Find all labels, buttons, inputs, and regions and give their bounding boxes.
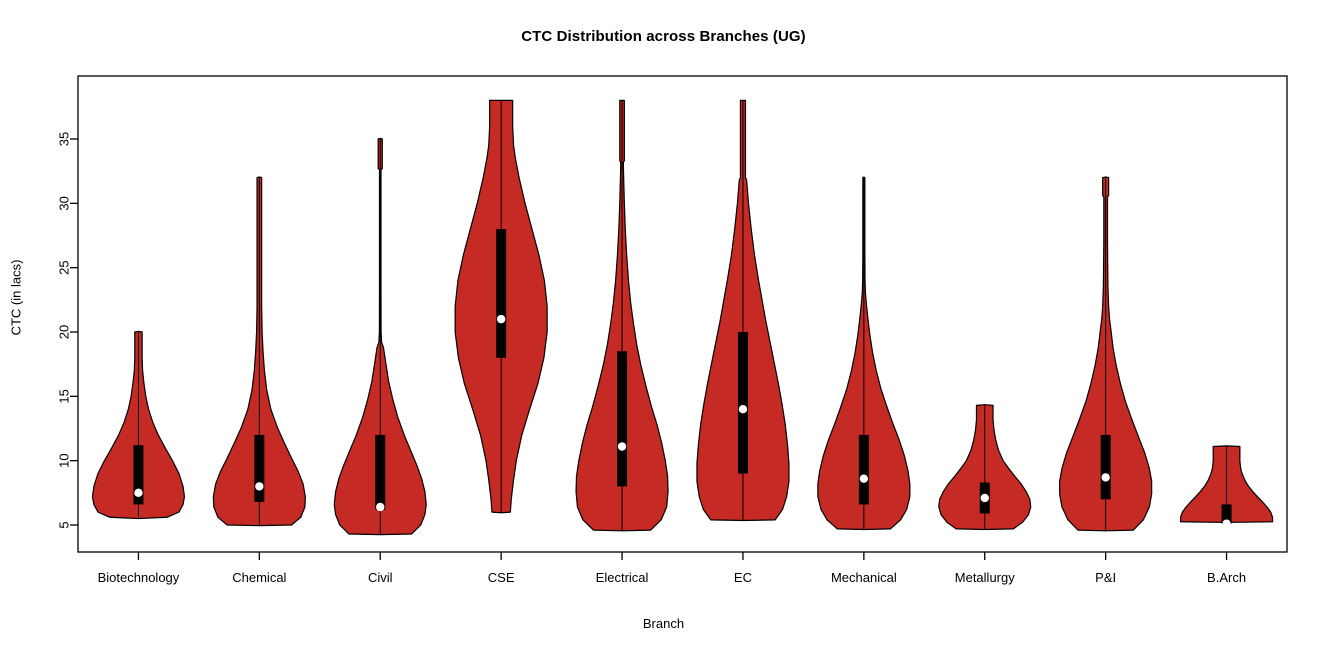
iqr-box <box>617 351 627 486</box>
median-point <box>739 405 747 413</box>
violin-plot-figure: CTC Distribution across Branches (UG) CT… <box>0 0 1327 653</box>
violin-b-arch[interactable] <box>1181 446 1273 528</box>
median-point <box>497 315 505 323</box>
iqr-box <box>375 435 385 510</box>
plot-canvas: 5101520253035BiotechnologyChemicalCivilC… <box>0 0 1327 653</box>
median-point <box>255 482 263 490</box>
violin-ec[interactable] <box>697 100 789 520</box>
median-point <box>134 489 142 497</box>
x-tick-label-biotechnology: Biotechnology <box>98 570 180 585</box>
violin-chemical[interactable] <box>213 177 305 526</box>
violin-biotechnology[interactable] <box>92 331 184 518</box>
x-tick-label-civil: Civil <box>368 570 393 585</box>
x-tick-label-p-i: P&I <box>1095 570 1116 585</box>
median-point <box>1101 473 1109 481</box>
x-tick-label-ec: EC <box>734 570 752 585</box>
median-point <box>860 474 868 482</box>
y-tick-label: 15 <box>57 389 72 403</box>
iqr-box <box>738 332 748 474</box>
iqr-box <box>859 435 869 504</box>
y-tick-label: 10 <box>57 453 72 467</box>
median-point <box>981 494 989 502</box>
x-tick-label-metallurgy: Metallurgy <box>955 570 1015 585</box>
median-point <box>618 442 626 450</box>
x-tick-label-mechanical: Mechanical <box>831 570 897 585</box>
violin-cse[interactable] <box>455 100 547 512</box>
iqr-box <box>254 435 264 502</box>
violin-bodies <box>92 100 1272 534</box>
y-tick-label: 35 <box>57 132 72 146</box>
violin-civil[interactable] <box>334 138 426 534</box>
median-point <box>376 503 384 511</box>
violin-p-i[interactable] <box>1060 177 1152 531</box>
iqr-box <box>1101 435 1111 499</box>
x-tick-label-cse: CSE <box>488 570 515 585</box>
y-tick-label: 30 <box>57 196 72 210</box>
iqr-box <box>496 229 506 358</box>
x-tick-label-chemical: Chemical <box>232 570 286 585</box>
violin-metallurgy[interactable] <box>939 405 1031 530</box>
x-tick-label-electrical: Electrical <box>596 570 649 585</box>
violin-electrical[interactable] <box>576 100 668 530</box>
y-tick-label: 20 <box>57 325 72 339</box>
violins-layer <box>92 100 1272 534</box>
y-tick-label: 25 <box>57 260 72 274</box>
y-tick-label: 5 <box>57 521 72 528</box>
median-point <box>1222 520 1230 528</box>
x-tick-label-b-arch: B.Arch <box>1207 570 1246 585</box>
violin-mechanical[interactable] <box>818 177 910 530</box>
